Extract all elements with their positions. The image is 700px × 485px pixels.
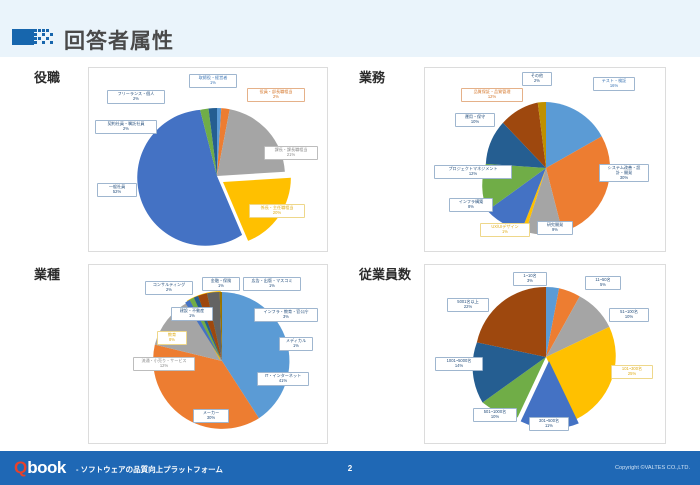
callout-emp-1-10: 1~10名 3% [513,272,547,286]
callout-operation-maintenance: 運用・保守 10% [455,113,495,127]
callout-infrastructure: インフラ構築 8% [449,198,493,212]
panel-label-position: 役職 [34,67,60,86]
slide-body: 役職 [0,59,700,451]
pie-chart-position: フリーランス・個人 2% 契約社員・嘱託社員 2% 取締役・経営者 1% 役員・… [88,67,328,252]
slide-footer: Qbook - ソフトウェアの品質向上プラットフォーム 2 Copyright … [0,451,700,485]
callout-emp-51-100: 51~100名 10% [609,308,649,322]
callout-maker: メーカー 30% [193,409,229,423]
callout-executive: 役員・部長職相当 2% [247,88,305,102]
callout-medical: メディカル 1% [279,337,313,351]
panel-label-work: 業務 [359,67,385,86]
pie-chart-industry: コンサルティング 2% 金融・保険 1% 広告・出版・マスコミ 1% 建設・不動… [88,264,328,444]
callout-education: 教育 8% [157,331,187,345]
callout-it-internet: IT・インターネット 41% [257,372,309,386]
slide-root: 回答者属性 役職 [0,0,700,485]
callout-infra-education-government: インフラ・教育・官公庁 3% [254,308,318,322]
copyright-text: Copyright ©VALTES CO.,LTD. [615,465,690,471]
callout-project-management: プロジェクトマネジメント 12% [434,165,512,179]
callout-director: 取締役・経営者 1% [189,74,237,88]
callout-other-work: その他 2% [522,72,552,86]
page-number: 2 [0,464,700,473]
callout-quality-assurance: 品質保証・品質管理 12% [461,88,523,102]
callout-emp-301-500: 301~500名 11% [529,417,569,431]
callout-emp-1001-5000: 1001~5000名 14% [435,357,483,371]
callout-general-staff: 一般社員 52% [97,183,137,197]
callout-emp-5001-plus: 5001名以上 22% [447,298,489,312]
callout-ux-ui-design: UX/UIデザイン 1% [480,223,530,237]
callout-finance-insurance: 金融・保険 1% [202,277,240,291]
callout-section-chief: 課長・課長職相当 21% [264,146,318,160]
callout-system-development: システム改善・設 計・開発 30% [599,164,649,182]
slide-header: 回答者属性 [0,0,700,58]
page-title: 回答者属性 [64,25,174,55]
callout-consulting: コンサルティング 2% [145,281,193,295]
pixel-dots-icon [12,26,58,48]
callout-distribution-retail-service: 流通・小売り・サービス 12% [133,357,195,371]
callout-emp-101-300: 101~300名 25% [611,365,653,379]
callout-research-development: 研究開発 9% [537,221,573,235]
panel-label-industry: 業種 [34,264,60,283]
pie-chart-work: その他 2% 品質保証・品質管理 12% 運用・保守 10% プロジェクトマネジ… [424,67,666,252]
callout-advertising-media: 広告・出版・マスコミ 1% [243,277,301,291]
callout-freelance: フリーランス・個人 2% [107,90,165,104]
callout-test-verification: テスト・検証 16% [593,77,635,91]
callout-emp-501-1000: 501~1000名 10% [473,408,517,422]
callout-emp-11-50: 11~50名 5% [585,276,621,290]
callout-assistant-manager: 係長・主任職相当 20% [249,204,305,218]
callout-contract-employee: 契約社員・嘱託社員 2% [95,120,157,134]
panel-label-employees: 従業員数 [359,264,411,283]
callout-construction-realestate: 建設・不動産 1% [171,307,213,321]
pie-chart-employees: 1~10名 3% 11~50名 5% 51~100名 10% 101~300名 … [424,264,666,444]
